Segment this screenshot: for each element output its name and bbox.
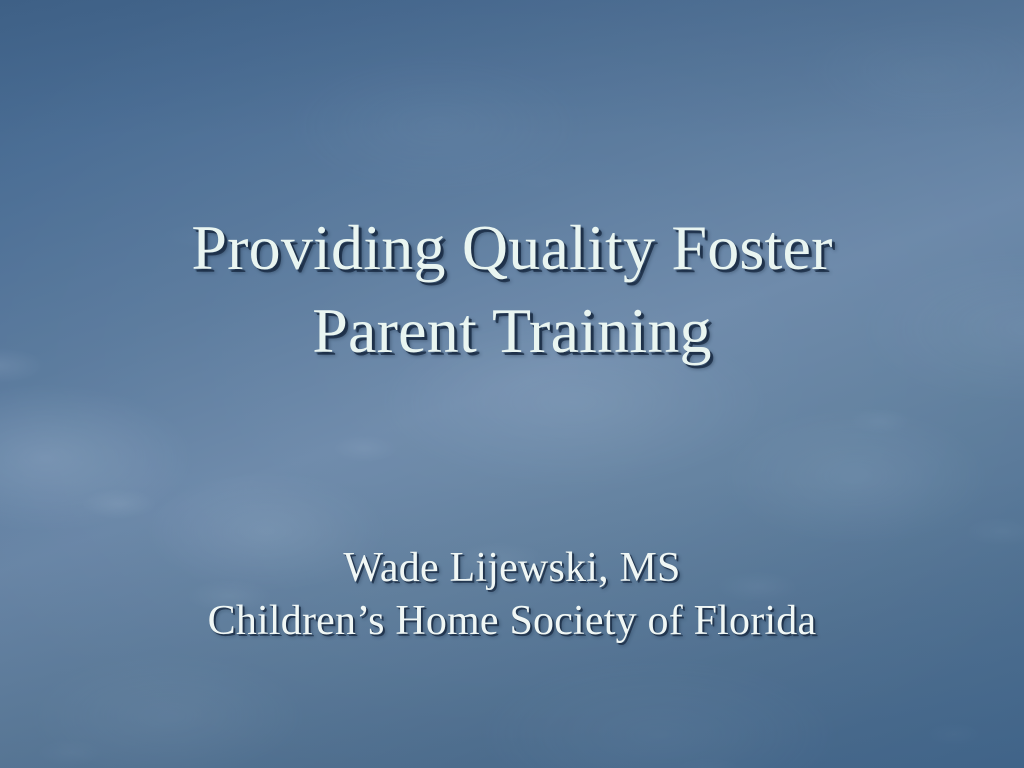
title-slide: Providing Quality Foster Parent Training…	[0, 0, 1024, 768]
slide-subtitle-presenter-name: Wade Lijewski, MS	[0, 542, 1024, 595]
slide-title-line-2: Parent Training	[0, 289, 1024, 372]
slide-content: Providing Quality Foster Parent Training…	[0, 0, 1024, 768]
slide-subtitle: Wade Lijewski, MS Children’s Home Societ…	[0, 542, 1024, 648]
slide-subtitle-organization: Children’s Home Society of Florida	[0, 595, 1024, 648]
slide-title: Providing Quality Foster Parent Training	[0, 206, 1024, 372]
slide-title-line-1: Providing Quality Foster	[0, 206, 1024, 289]
